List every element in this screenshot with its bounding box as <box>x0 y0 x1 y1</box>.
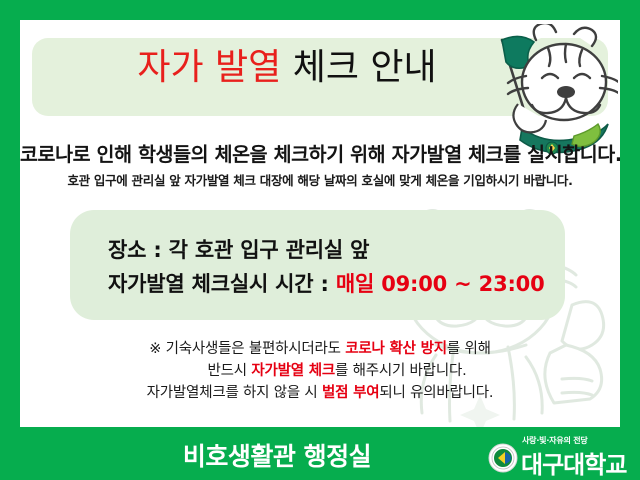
subheadline-text: 호관 입구에 관리실 앞 자가발열 체크 대장에 해당 날짜의 호실에 맞게 체… <box>20 170 620 189</box>
page-title-highlight: 자가 발열 <box>137 47 281 88</box>
warning-line-2: 반드시 자가발열 체크를 해주시기 바랍니다. <box>20 360 620 382</box>
warning-line-3-b: 되니 유의바랍니다. <box>379 385 493 401</box>
poster-root: 자가 발열 체크 안내 <box>0 0 640 480</box>
warning-line-1-highlight: 코로나 확산 방지 <box>345 341 447 357</box>
warning-line-3-a: 자가발열체크를 하지 않을 시 <box>147 385 322 401</box>
warning-block: ※ 기숙사생들은 불편하시더라도 코로나 확산 방지를 위해 반드시 자가발열 … <box>20 338 620 404</box>
warning-line-2-a: 반드시 <box>207 363 251 379</box>
warning-line-1-a: ※ 기숙사생들은 불편하시더라도 <box>149 341 345 357</box>
info-location-line: 장소 : 각 호관 입구 관리실 앞 <box>108 233 578 267</box>
footer-bar: 비호생활관 행정실 사랑·빛·자유의 전당 대구대학교 <box>0 427 640 480</box>
headline-text: 코로나로 인해 학생들의 체온을 체크하기 위해 자가발열 체크를 실시합니다. <box>20 138 620 167</box>
warning-line-2-highlight: 자가발열 체크 <box>251 363 335 379</box>
warning-line-3-highlight: 벌점 부여 <box>322 385 379 401</box>
warning-line-1-b: 를 위해 <box>447 341 491 357</box>
page-title: 자가 발열 체크 안내 <box>72 46 502 90</box>
university-logo: 사랑·빛·자유의 전당 대구대학교 <box>488 435 634 475</box>
info-time-line: 자가발열 체크실시 시간 : 매일 09:00 ~ 23:00 <box>108 267 578 301</box>
info-time-label: 자가발열 체크실시 시간 : <box>108 272 336 296</box>
warning-line-1: ※ 기숙사생들은 불편하시더라도 코로나 확산 방지를 위해 <box>20 338 620 360</box>
poster-page: 자가 발열 체크 안내 <box>20 20 620 427</box>
page-title-rest: 체크 안내 <box>281 47 436 88</box>
warning-line-2-b: 를 해주시기 바랍니다. <box>335 363 467 379</box>
warning-line-3: 자가발열체크를 하지 않을 시 벌점 부여되니 유의바랍니다. <box>20 382 620 404</box>
logo-university-name: 대구대학교 <box>521 445 626 480</box>
university-seal-icon <box>488 443 518 473</box>
info-panel-content: 장소 : 각 호관 입구 관리실 앞 자가발열 체크실시 시간 : 매일 09:… <box>108 233 578 301</box>
info-time-value: 매일 09:00 ~ 23:00 <box>336 272 545 296</box>
